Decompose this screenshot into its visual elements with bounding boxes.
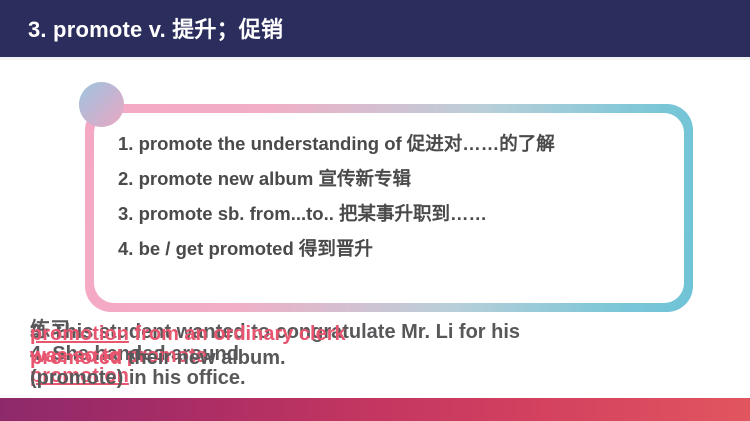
gradient-circle-icon [79,82,124,127]
list-item: 2. promote new album 宣传新专辑 [118,161,678,196]
page-title: 3. promote v. 提升；促销 [28,12,283,44]
list-item: 3. promote sb. from...to.. 把某事升职到…… [118,196,678,231]
header-divider [0,57,750,60]
phrase-list: 1. promote the understanding of 促进对……的了解… [118,126,678,266]
slide-canvas: 3. promote v. 提升；促销 1. promote the under… [0,0,750,421]
list-item: 4. be / get promoted 得到晋升 [118,231,678,266]
footer-gradient-bar [0,398,750,421]
layer-sentence-5-dark: (promote) in his office. [30,366,750,390]
exercise-overlay: 练习 3. This student wanted to congratulat… [0,312,750,394]
list-item: 1. promote the understanding of 促进对……的了解 [118,126,678,161]
